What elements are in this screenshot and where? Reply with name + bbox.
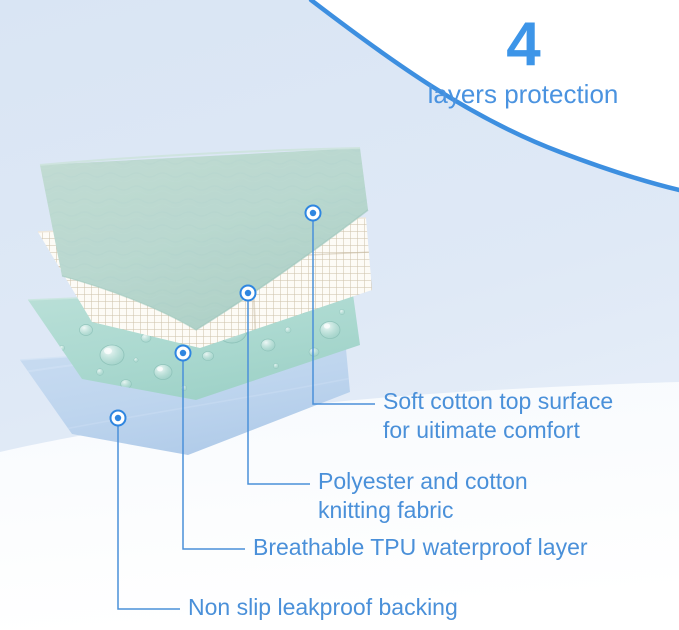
callout-line-tpu [176,346,246,550]
marker-dot-soft-cotton [310,210,316,216]
callout-label-backing: Non slip leakproof backing [188,593,458,622]
marker-dot-polyester [245,290,251,296]
marker-dot-backing [115,415,121,421]
callout-line-soft-cotton [306,206,376,405]
callout-label-tpu: Breathable TPU waterproof layer [253,533,588,562]
callout-label-soft-cotton: Soft cotton top surface for uitimate com… [383,387,613,446]
headline-number: 4 [393,14,653,76]
callout-line-polyester [241,286,311,485]
headline-block: 4 layers protection [393,14,653,110]
callout-line-backing [111,411,181,610]
callout-label-polyester: Polyester and cotton knitting fabric [318,467,528,526]
marker-dot-tpu [180,350,186,356]
infographic-canvas: 4 layers protection Soft cotton top surf… [0,0,679,630]
headline-subtitle: layers protection [393,80,653,110]
